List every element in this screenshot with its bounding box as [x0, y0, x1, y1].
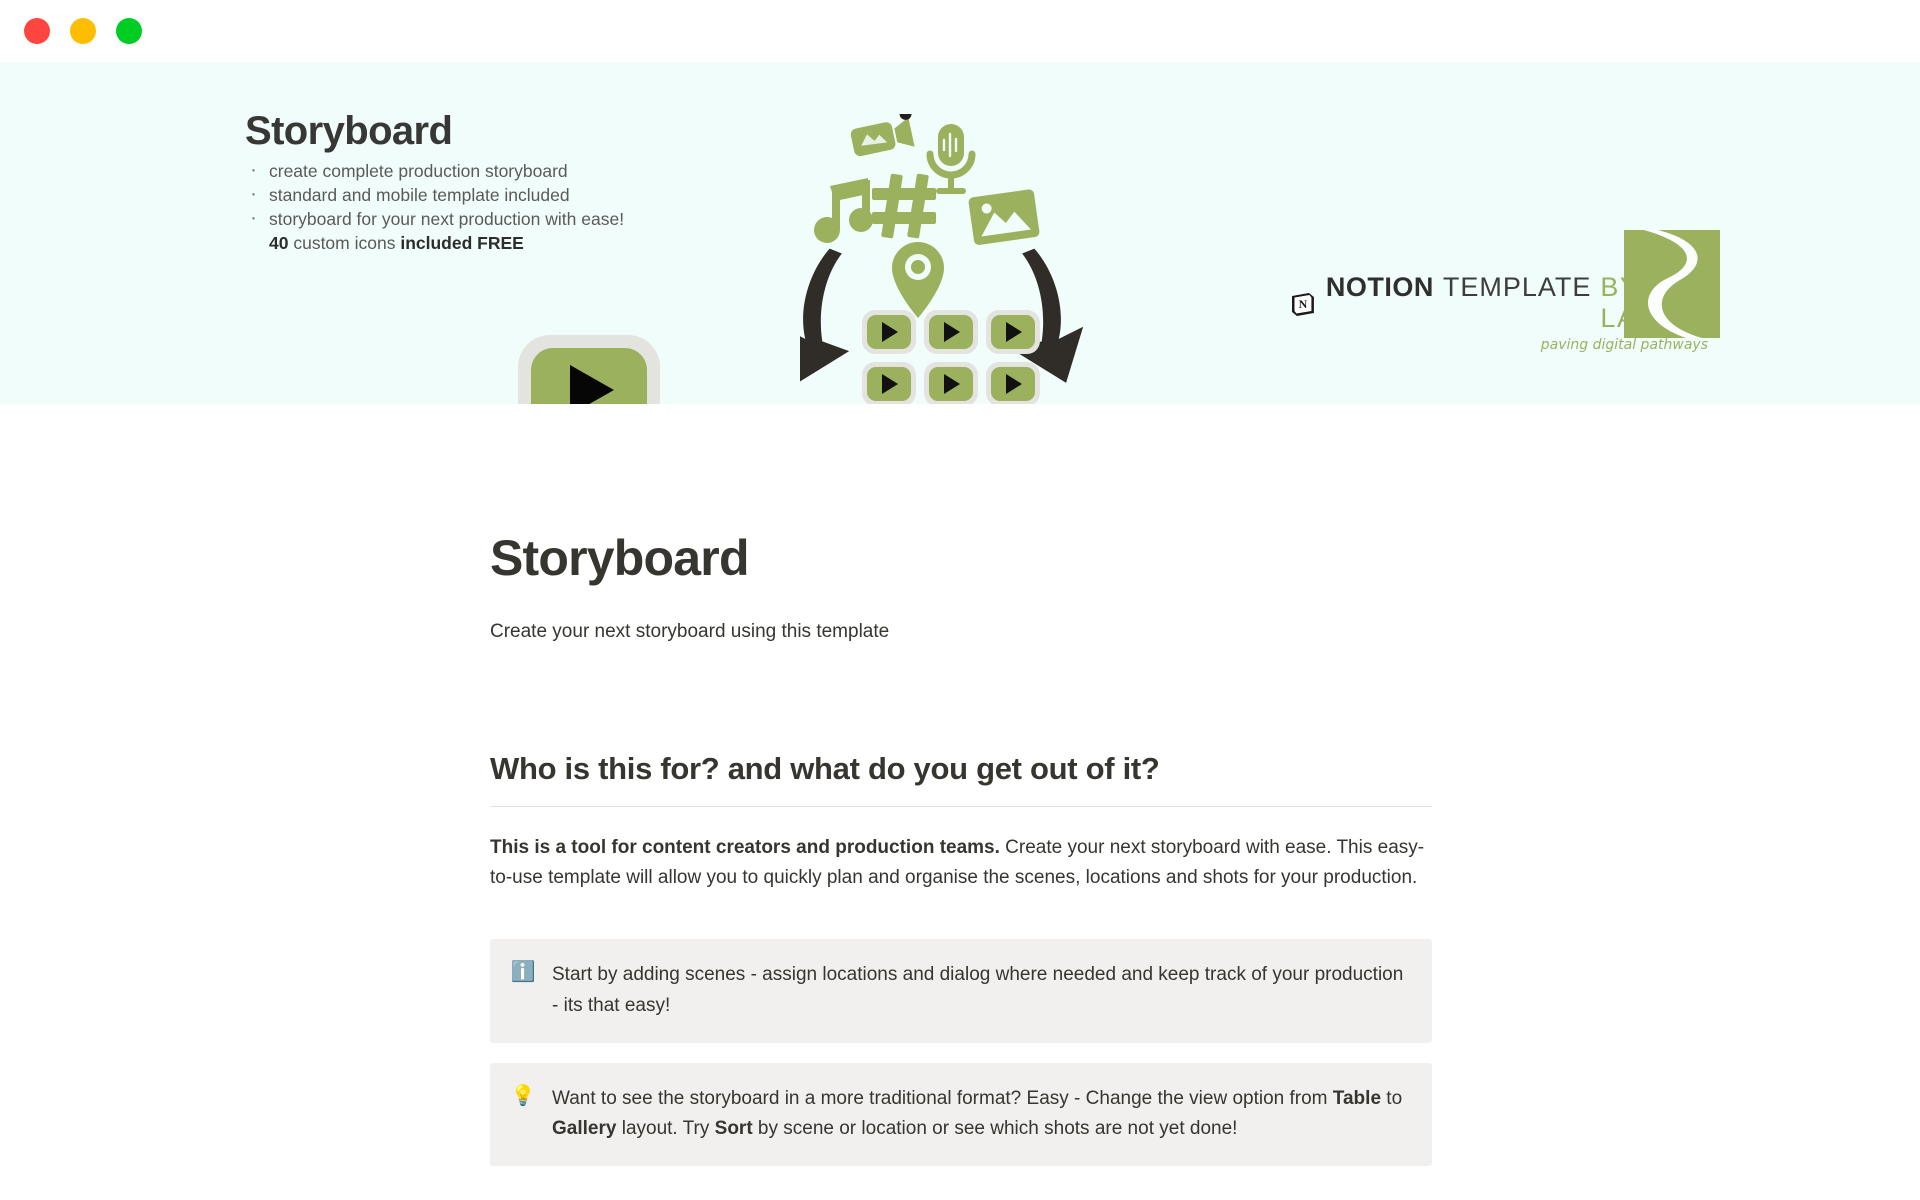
- callout-tip-run: layout. Try: [616, 1118, 714, 1139]
- callout-tip-text: Want to see the storyboard in a more tra…: [552, 1084, 1410, 1146]
- intro-paragraph[interactable]: This is a tool for content creators and …: [490, 833, 1432, 895]
- cover-banner[interactable]: Storyboard create complete production st…: [0, 62, 1920, 404]
- cover-promo-title: Storyboard: [245, 110, 624, 152]
- callout-tip-run: Want to see the storyboard in a more tra…: [552, 1088, 1333, 1109]
- logo-word-notion: NOTION: [1326, 272, 1434, 303]
- info-icon: ℹ️: [511, 960, 535, 986]
- video-camera-icon: [848, 114, 919, 159]
- callout-tip-run: by scene or location or see which shots …: [753, 1118, 1238, 1139]
- cover-promo-bullet: create complete production storyboard: [245, 159, 624, 183]
- cover-promo-footnote-free: included FREE: [400, 233, 523, 253]
- callout-tip-run: to: [1381, 1088, 1402, 1109]
- page-title[interactable]: Storyboard: [490, 529, 1432, 587]
- hashtag-icon: [872, 173, 936, 238]
- logo-word-template: TEMPLATE: [1443, 272, 1592, 303]
- cover-promo-bullet: standard and mobile template included: [245, 183, 624, 207]
- callout-tip-bold-term: Sort: [715, 1118, 753, 1139]
- cover-promo-block: Storyboard create complete production st…: [245, 110, 624, 254]
- cover-promo-footnote-count: 40: [269, 233, 288, 253]
- page-subtitle[interactable]: Create your next storyboard using this t…: [490, 618, 1432, 647]
- music-note-icon: [814, 178, 873, 243]
- lightbulb-icon: 💡: [511, 1084, 535, 1110]
- callout-info-text: Start by adding scenes - assign location…: [552, 960, 1410, 1022]
- page-body: Storyboard Create your next storyboard u…: [0, 404, 1920, 1200]
- maximize-button[interactable]: [116, 18, 142, 44]
- cover-promo-footnote-middle: custom icons: [288, 233, 400, 253]
- cover-promo-bullets: create complete production storyboard st…: [245, 159, 624, 231]
- microphone-icon: [930, 124, 972, 194]
- callout-tip[interactable]: 💡 Want to see the storyboard in a more t…: [490, 1063, 1432, 1167]
- notion-cube-icon: N: [1290, 278, 1316, 330]
- logo-tagline: paving digital pathways: [1290, 337, 1710, 353]
- cover-promo-footnote: 40 custom icons included FREE: [245, 233, 624, 254]
- callout-tip-bold-term: Gallery: [552, 1118, 616, 1139]
- location-pin-icon: [892, 242, 944, 318]
- minimize-button[interactable]: [70, 18, 96, 44]
- play-tile-grid: [862, 310, 1040, 404]
- intro-bold-lead: This is a tool for content creators and …: [490, 837, 1000, 858]
- callout-info[interactable]: ℹ️ Start by adding scenes - assign locat…: [490, 939, 1432, 1043]
- media-icons-burst-graphic: [800, 114, 1110, 404]
- window-titlebar: [0, 0, 1920, 62]
- lane25-road-mark: [1624, 230, 1720, 338]
- callout-tip-bold-term: Table: [1333, 1088, 1381, 1109]
- svg-text:N: N: [1299, 297, 1308, 311]
- close-button[interactable]: [24, 18, 50, 44]
- image-icon: [968, 189, 1040, 246]
- arrow-down-left-icon: [800, 249, 849, 383]
- section-heading[interactable]: Who is this for? and what do you get out…: [490, 751, 1432, 787]
- section-divider: [490, 806, 1432, 807]
- cover-promo-bullet: storyboard for your next production with…: [245, 207, 624, 231]
- notion-template-logo: N NOTION TEMPLATE BY LANE25 paving digit…: [1290, 272, 1710, 402]
- content-column: Storyboard Create your next storyboard u…: [490, 404, 1432, 1166]
